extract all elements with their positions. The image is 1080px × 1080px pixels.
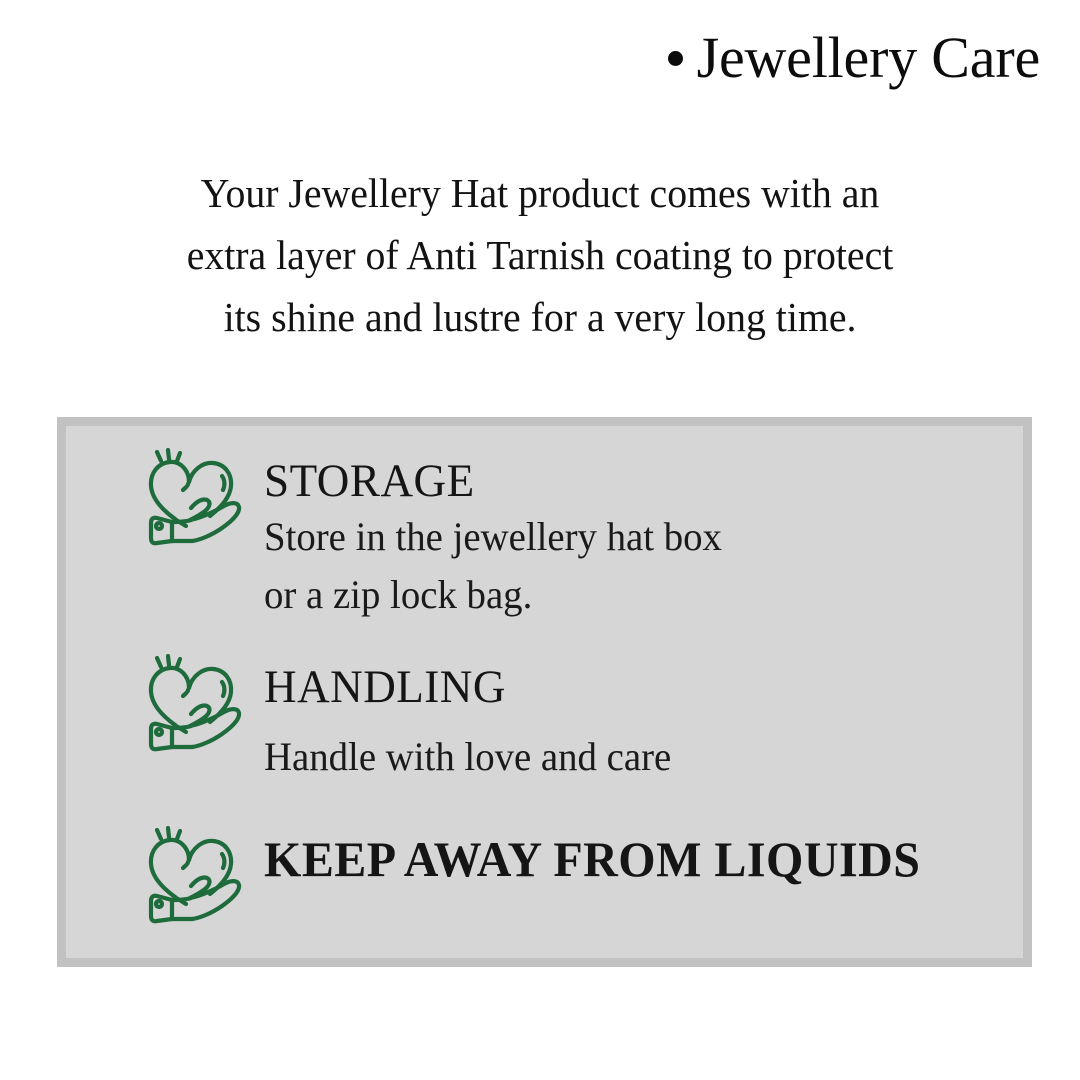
intro-line-2: extra layer of Anti Tarnish coating to p…: [84, 224, 996, 286]
care-item-liquids: KEEP AWAY FROM LIQUIDS: [144, 826, 948, 924]
intro-line-3: its shine and lustre for a very long tim…: [84, 286, 996, 348]
hand-holding-heart-icon: [144, 448, 248, 546]
care-item-text: STORAGE Store in the jewellery hat box o…: [264, 448, 736, 624]
page-title-text: Jewellery Care: [697, 25, 1040, 90]
care-body-storage: Store in the jewellery hat box or a zip …: [264, 508, 722, 624]
care-body-handling: Handle with love and care: [264, 728, 671, 786]
care-heading-liquids: KEEP AWAY FROM LIQUIDS: [264, 832, 920, 886]
hand-holding-heart-icon: [144, 654, 248, 752]
care-item-text: KEEP AWAY FROM LIQUIDS: [264, 826, 948, 886]
care-item-text: HANDLING Handle with love and care: [264, 654, 684, 786]
care-body-line-1: Handle with love and care: [264, 728, 671, 786]
care-instruction-list: STORAGE Store in the jewellery hat box o…: [66, 426, 1023, 958]
care-heading-handling: HANDLING: [264, 660, 667, 714]
intro-line-1: Your Jewellery Hat product comes with an: [84, 162, 996, 224]
care-item-handling: HANDLING Handle with love and care: [144, 654, 684, 786]
page-title: Jewellery Care: [0, 28, 1040, 89]
care-instructions-box: STORAGE Store in the jewellery hat box o…: [57, 417, 1032, 967]
hand-holding-heart-icon: [144, 826, 248, 924]
intro-paragraph: Your Jewellery Hat product comes with an…: [84, 162, 996, 348]
care-heading-storage: STORAGE: [264, 454, 717, 508]
bullet-dot-icon: [668, 51, 683, 66]
care-body-line-1: Store in the jewellery hat box: [264, 508, 722, 566]
care-body-line-2: or a zip lock bag.: [264, 566, 722, 624]
care-item-storage: STORAGE Store in the jewellery hat box o…: [144, 448, 736, 624]
